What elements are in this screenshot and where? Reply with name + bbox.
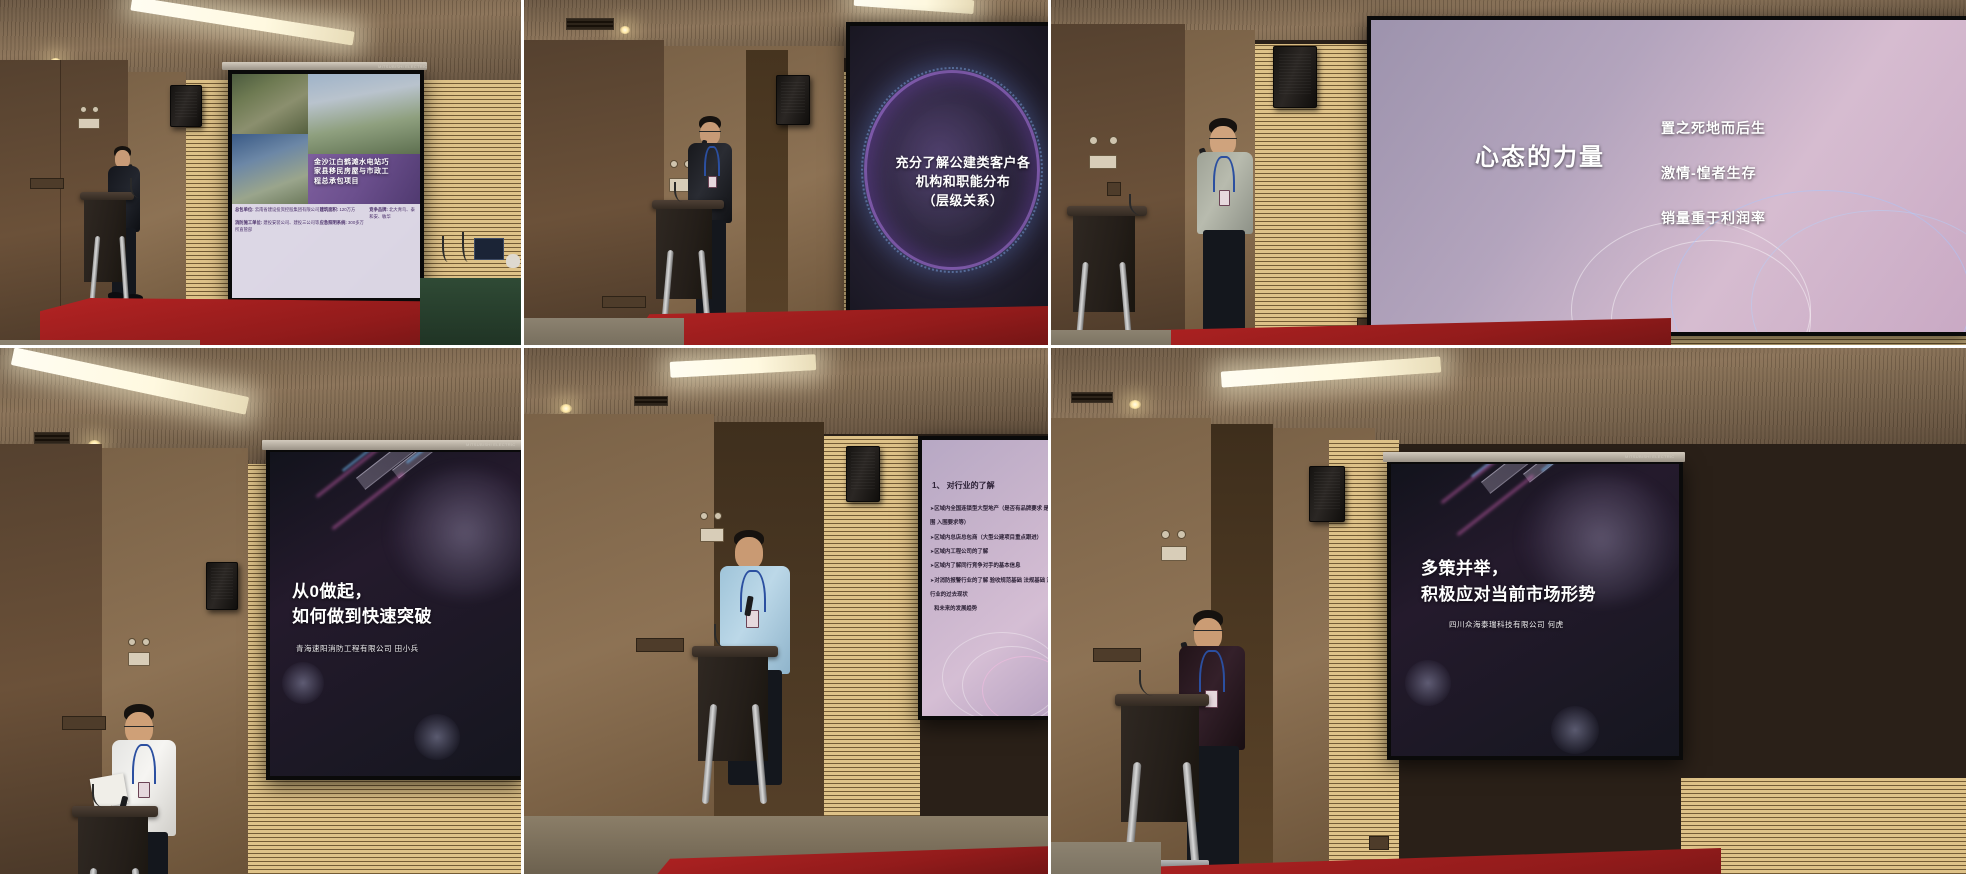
ceiling-vent [566, 18, 614, 30]
glasses [1193, 630, 1223, 631]
photo-panel-2: 充分了解公建类客户各 机构和职能分布 （层级关系） [524, 0, 1048, 345]
wall-speaker [206, 562, 238, 610]
room-scene-4: 从0做起， 如何做到快速突破 青海速阳消防工程有限公司 田小兵 MITSUBIS… [0, 348, 521, 874]
projector-brand-label-6: MITSUBISHI ELECTRIC [1625, 454, 1674, 459]
wall-seam [60, 60, 61, 345]
badge[interactable] [1219, 190, 1230, 206]
wall-speaker [170, 85, 202, 127]
slide-bullet-5: ➤对消防报警行业的了解 验收规范基础 法规基础 消防行业的过去现状 [930, 574, 1048, 603]
ceiling-vent [634, 396, 668, 406]
slide-surface-2: 充分了解公建类客户各 机构和职能分布 （层级关系） [850, 26, 1048, 318]
photo-panel-6: 多策并举， 积极应对当前市场形势 四川众海泰瑞科技有限公司 何虎 MITSUBI… [1051, 348, 1966, 874]
slide-bullet-1: 置之死地而后生 [1661, 106, 1766, 151]
ceiling-downlight [620, 26, 630, 34]
projector-brand-label-4: MITSUBISHI ELECTRIC [466, 442, 515, 447]
wall-dial-2 [714, 512, 722, 520]
slide-heading-3: 心态的力量 [1475, 142, 1605, 174]
floor-1 [0, 340, 200, 345]
wall-outlet-group [1093, 648, 1141, 662]
slide-title-line-1: 充分了解公建类客户各 [878, 154, 1048, 173]
badge[interactable] [708, 176, 717, 188]
slide-title-line-1: 金沙江白鹤滩水电站巧 [314, 158, 418, 167]
floor-2 [524, 318, 684, 345]
info-item-0: 总包单位: 云南省建设投资控股集团有限公司 [235, 207, 320, 220]
slide-bullets-5: ➤区域内全国连锁型大型地产（是否有品牌要求 是否入围 入围要求等） ➤区域内总店… [930, 502, 1048, 617]
projector-brand-label: MITSUBISHI ELECTRIC [378, 64, 427, 69]
lanyard [1213, 156, 1235, 192]
table-mic-1 [442, 236, 452, 262]
podium-top-1 [80, 192, 134, 200]
slide-surface-4: 从0做起， 如何做到快速突破 青海速阳消防工程有限公司 田小兵 [270, 452, 520, 776]
info-item-2: 消防施工单位: 建投安装公司、建投三公司等所直管部 [235, 220, 320, 233]
wall-dial-1 [128, 638, 136, 646]
floor-outlet [1369, 836, 1389, 850]
slide-subtitle-4: 青海速阳消防工程有限公司 田小兵 [296, 644, 419, 654]
slide-info-text: 总包单位: 云南省建设投资控股集团有限公司 建筑面积: 120万方 竞争品牌: … [235, 207, 419, 234]
slide-surface-6: 多策并举， 积极应对当前市场形势 四川众海泰瑞科技有限公司 何虎 [1391, 464, 1679, 756]
wall-outlet-group [602, 296, 646, 308]
room-scene-1: 金沙江白鹤滩水电站巧 家县移民房屋与市政工 程总承包项目 总包单位: 云南省建设… [0, 0, 521, 345]
photo-panel-4: 从0做起， 如何做到快速突破 青海速阳消防工程有限公司 田小兵 MITSUBIS… [0, 348, 521, 874]
photo-grid: 金沙江白鹤滩水电站巧 家县移民房屋与市政工 程总承包项目 总包单位: 云南省建设… [0, 0, 1966, 874]
wall-speaker [846, 446, 880, 502]
glasses [699, 131, 721, 132]
wall-wood-slats-right [1681, 778, 1966, 874]
slide-bullets-3: 置之死地而后生 激情-惶者生存 销量重于利润率 [1661, 106, 1766, 240]
wall-control-panel[interactable] [128, 652, 150, 666]
wall-outlet-group [62, 716, 106, 730]
wall-dial-2 [1177, 530, 1186, 539]
slide-title-line-2: 机构和职能分布 [878, 173, 1048, 192]
slide-title-line-1: 从0做起， [292, 580, 512, 605]
info-item-4: 竞争品牌: 北大青鸟、泰和安、敏华 [369, 207, 419, 220]
slide-title-line-3: （层级关系） [878, 192, 1048, 211]
wall-dial-1 [1089, 136, 1098, 145]
slide-title-4: 从0做起， 如何做到快速突破 [292, 580, 512, 629]
photo-panel-1: 金沙江白鹤滩水电站巧 家县移民房屋与市政工 程总承包项目 总包单位: 云南省建设… [0, 0, 521, 345]
podium-top-4 [72, 806, 158, 817]
podium-body-4 [78, 817, 148, 874]
ceiling-vent [1071, 392, 1113, 403]
wall-control-panel[interactable] [1089, 155, 1117, 169]
slide-title-6: 多策并举， 积极应对当前市场形势 [1421, 556, 1671, 607]
ceiling-vent [34, 432, 70, 444]
head [735, 537, 763, 569]
floor-3 [1051, 330, 1171, 345]
podium-gooseneck-mic-1 [130, 178, 146, 198]
wall-dial-2 [142, 638, 150, 646]
projection-screen-1: 金沙江白鹤滩水电站巧 家县移民房屋与市政工 程总承包项目 总包单位: 云南省建设… [228, 70, 424, 302]
slide-bullet-3: ➤区域内工程公司的了解 [930, 545, 1048, 559]
room-scene-6: 多策并举， 积极应对当前市场形势 四川众海泰瑞科技有限公司 何虎 MITSUBI… [1051, 348, 1966, 874]
wall-dial-1 [700, 512, 708, 520]
wall-outlet-group [636, 638, 684, 652]
slide-title-2: 充分了解公建类客户各 机构和职能分布 （层级关系） [878, 154, 1048, 211]
bokeh-circle-2 [414, 714, 460, 760]
glasses [1209, 138, 1237, 139]
wall-outlet-group [1107, 182, 1121, 196]
slide-title-line-1: 多策并举， [1421, 556, 1671, 582]
room-scene-3: 心态的力量 置之死地而后生 激情-惶者生存 销量重于利润率 [1051, 0, 1966, 345]
ceiling-downlight [1129, 400, 1141, 409]
podium-gooseneck-mic-2 [674, 182, 688, 202]
slide-title-line-2: 积极应对当前市场形势 [1421, 582, 1671, 608]
slide-photo-aerial-2 [308, 74, 420, 154]
wall-dial-1 [80, 106, 87, 113]
badge[interactable] [138, 782, 150, 798]
slide-bullet-3: 销量重于利润率 [1661, 196, 1766, 241]
slide-title-1: 金沙江白鹤滩水电站巧 家县移民房屋与市政工 程总承包项目 [314, 158, 418, 186]
stage-platform-1 [40, 298, 460, 345]
podium-top-2 [652, 200, 724, 209]
slide-surface-1: 金沙江白鹤滩水电站巧 家县移民房屋与市政工 程总承包项目 总包单位: 云南省建设… [232, 74, 420, 298]
projection-screen-6: 多策并举， 积极应对当前市场形势 四川众海泰瑞科技有限公司 何虎 [1387, 460, 1683, 760]
legs [1203, 230, 1245, 338]
bokeh-circle-2 [1551, 706, 1599, 754]
wall-speaker [776, 75, 810, 125]
wall-control-panel[interactable] [78, 118, 100, 129]
wall-speaker [1273, 46, 1317, 108]
projection-screen-2: 充分了解公建类客户各 机构和职能分布 （层级关系） [846, 22, 1048, 322]
lanyard [132, 744, 156, 784]
bokeh-circle-1 [282, 662, 324, 704]
floor-6 [1051, 842, 1161, 874]
wall-control-panel[interactable] [1161, 546, 1187, 561]
lanyard [740, 570, 766, 612]
wall-dial-1 [1161, 530, 1170, 539]
lanyard [704, 146, 720, 176]
slide-heading-5: 1、 对行业的了解 [932, 480, 995, 491]
photo-panel-5: 1、 对行业的了解 ➤区域内全国连锁型大型地产（是否有品牌要求 是否入围 入围要… [524, 348, 1048, 874]
stage-smoke [390, 468, 520, 598]
wall-dial-1 [670, 160, 678, 168]
photo-panel-3: 心态的力量 置之死地而后生 激情-惶者生存 销量重于利润率 [1051, 0, 1966, 345]
slide-surface-3: 心态的力量 置之死地而后生 激情-惶者生存 销量重于利润率 [1371, 20, 1966, 332]
av-table [420, 278, 521, 345]
wall-dial-2 [92, 106, 99, 113]
projection-screen-4: 从0做起， 如何做到快速突破 青海速阳消防工程有限公司 田小兵 [266, 448, 521, 780]
slide-photo-aerial-3 [232, 134, 308, 204]
room-scene-5: 1、 对行业的了解 ➤区域内全国连锁型大型地产（是否有品牌要求 是否入围 入围要… [524, 348, 1048, 874]
wall-left [524, 414, 714, 874]
projection-screen-3: 心态的力量 置之死地而后生 激情-惶者生存 销量重于利润率 [1367, 16, 1966, 336]
room-scene-2: 充分了解公建类客户各 机构和职能分布 （层级关系） [524, 0, 1048, 345]
wall-speaker [1309, 466, 1345, 522]
teapot [506, 254, 520, 268]
glasses [124, 726, 154, 727]
info-item-1: 建筑面积: 120万方 [320, 207, 370, 220]
table-mic-2 [462, 232, 472, 262]
wall-dial-2 [1109, 136, 1118, 145]
wall-outlet-group [30, 178, 64, 189]
ceiling-downlight [560, 404, 572, 413]
slide-photo-aerial-1 [232, 74, 308, 134]
wall-control-panel[interactable] [700, 528, 724, 542]
slide-bullet-1: ➤区域内全国连锁型大型地产（是否有品牌要求 是否入围 入围要求等） [930, 502, 1048, 531]
slide-bullet-2: 激情-惶者生存 [1661, 151, 1766, 196]
projection-screen-5: 1、 对行业的了解 ➤区域内全国连锁型大型地产（是否有品牌要求 是否入围 入围要… [918, 436, 1048, 720]
slide-title-line-2: 家县移民房屋与市政工 [314, 167, 418, 176]
slide-title-line-3: 程总承包项目 [314, 177, 418, 186]
laptop[interactable] [474, 238, 504, 260]
slide-subtitle-6: 四川众海泰瑞科技有限公司 何虎 [1449, 620, 1564, 630]
lanyard [1199, 650, 1225, 692]
light-beam-blue-2 [1541, 464, 1645, 472]
info-item-3: 应急照明系统: 300多万 [320, 220, 419, 233]
slide-title-line-2: 如何做到快速突破 [292, 605, 512, 630]
bokeh-circle-1 [1405, 660, 1451, 706]
slide-bullet-6: 和未来的发展趋势 [930, 602, 1048, 616]
shoe-left [108, 292, 124, 299]
slide-surface-5: 1、 对行业的了解 ➤区域内全国连锁型大型地产（是否有品牌要求 是否入围 入围要… [922, 440, 1048, 716]
slide-bullet-4: ➤区域内了解同行竞争对手的基本信息 [930, 559, 1048, 573]
slide-bullet-2: ➤区域内总店总包商（大型公建项目重点跟进） [930, 531, 1048, 545]
